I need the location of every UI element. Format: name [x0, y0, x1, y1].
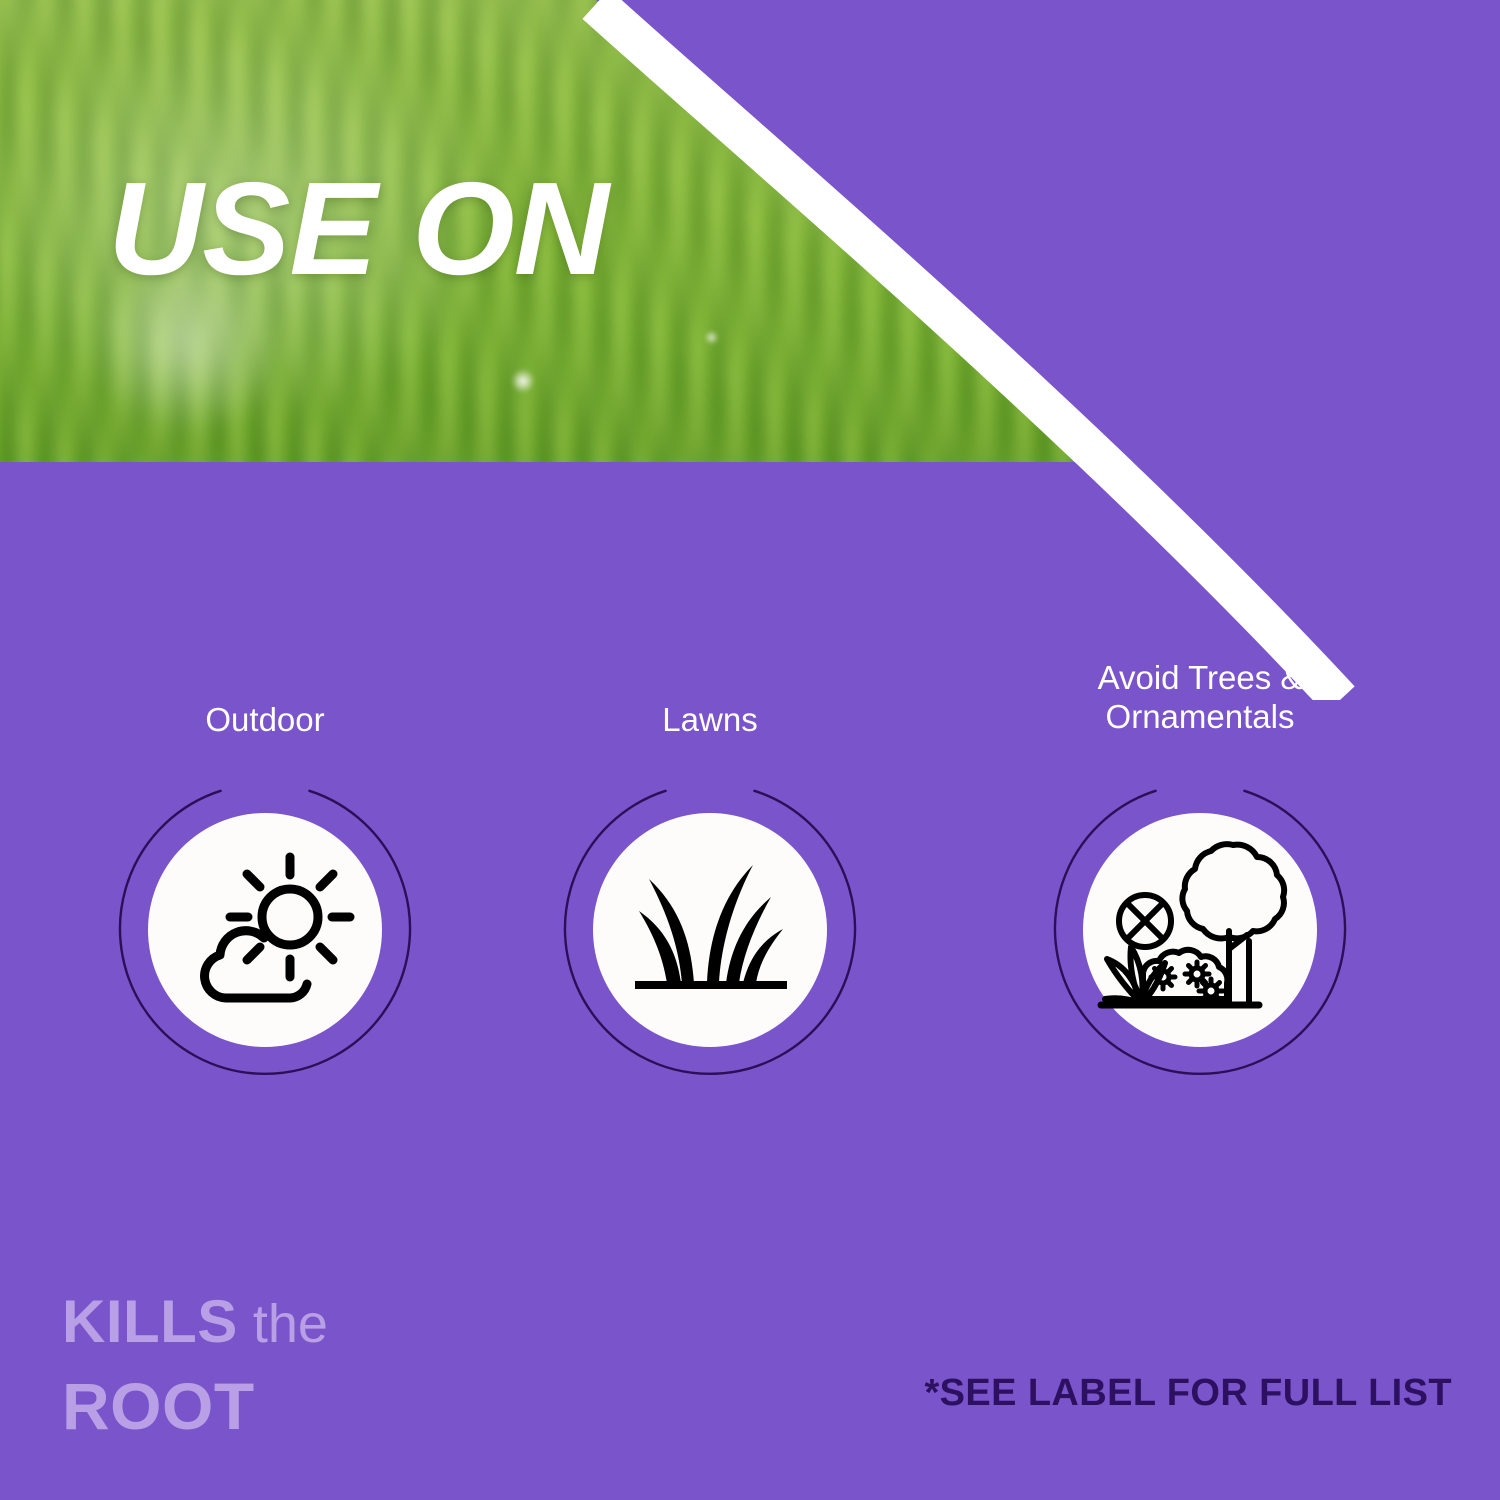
badge-outdoor-ring [115, 780, 415, 1080]
see-label-disclaimer: *SEE LABEL FOR FULL LIST [924, 1372, 1452, 1415]
sun-behind-cloud-icon [148, 813, 382, 1047]
use-on-badge-row: Outdoor [0, 700, 1500, 1130]
kills-the-root-tagline: KILLS the ROOT [62, 1288, 328, 1440]
root-word: ROOT [62, 1372, 328, 1440]
badge-avoid-label-line2: Ornamentals [1106, 698, 1295, 735]
grass-blades-icon [593, 813, 827, 1047]
badge-avoid-label: Avoid Trees & Ornamentals [1035, 658, 1365, 736]
badge-lawns-ring [560, 780, 860, 1080]
badge-outdoor-label: Outdoor [100, 700, 430, 739]
badge-lawns-label: Lawns [545, 700, 875, 739]
page-title: USE ON [108, 163, 608, 295]
badge-outdoor[interactable]: Outdoor [100, 700, 430, 1130]
tree-shrub-no-symbol-icon [1083, 813, 1317, 1047]
badge-avoid-label-line1: Avoid Trees & [1098, 659, 1303, 696]
badge-avoid-trees-ornamentals[interactable]: Avoid Trees & Ornamentals [1035, 700, 1365, 1130]
badge-lawns[interactable]: Lawns [545, 700, 875, 1130]
poster-canvas: USE ON Outdoor [0, 0, 1500, 1500]
the-word: the [238, 1294, 328, 1354]
swoosh-divider [0, 0, 1500, 700]
kills-word: KILLS [62, 1288, 238, 1355]
badge-avoid-ring [1050, 780, 1350, 1080]
